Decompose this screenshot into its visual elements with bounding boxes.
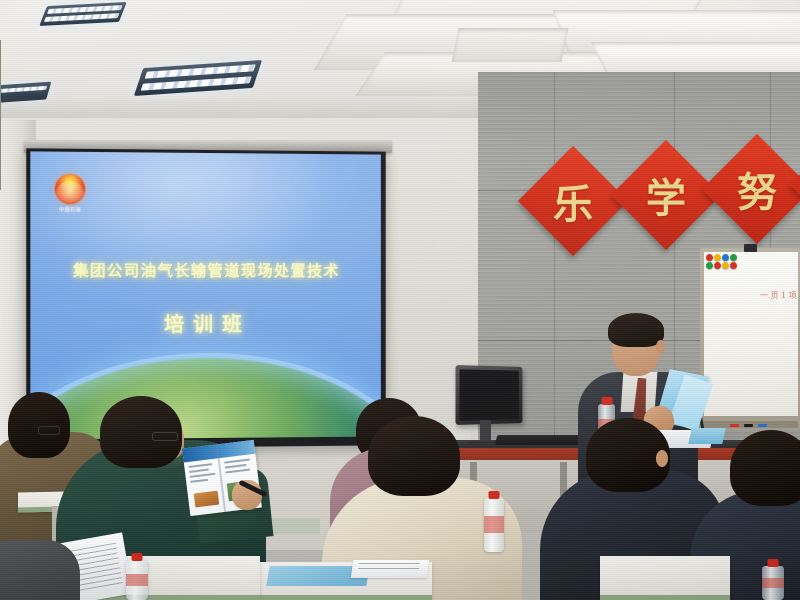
desk-blue-folder: [688, 428, 725, 444]
attendee-dark-suit-far-right-head: [730, 430, 800, 506]
slide-title: 集团公司油气长输管道现场处置技术: [30, 259, 381, 282]
wall-banner-xue: 学: [611, 140, 721, 250]
banner-glyph: 学: [627, 156, 705, 234]
whiteboard-magnet: [730, 262, 737, 269]
whiteboard-writing: 一 页 1 项: [760, 290, 800, 301]
water-bottle: [484, 498, 504, 552]
attendee-cream-head: [368, 416, 460, 496]
wall-banner-le: 乐: [518, 146, 628, 256]
cnpc-sun-logo: 中国石油: [49, 174, 92, 214]
desk-papers: [351, 560, 430, 578]
eyeglasses-icon: [38, 426, 60, 435]
presenter-hair: [608, 313, 664, 347]
banner-glyph: 乐: [534, 162, 612, 240]
cnpc-sun-icon: [55, 174, 85, 204]
photo-scene: 乐 学 努 一 页 1 项: [0, 0, 800, 600]
presenter-ear: [656, 340, 665, 354]
whiteboard-magnet: [706, 262, 713, 269]
ceiling-light-panel: [39, 2, 127, 26]
whiteboard-magnet: [722, 262, 729, 269]
whiteboard-marker: [730, 424, 739, 427]
attendee-table-right: [600, 556, 730, 600]
water-bottle: [762, 566, 784, 600]
attendee-dark-suit-right-ear: [656, 450, 668, 467]
whiteboard: 一 页 1 项: [700, 248, 800, 430]
eyeglasses-icon: [152, 432, 178, 441]
whiteboard-marker: [758, 424, 767, 427]
whiteboard-magnet: [714, 254, 721, 261]
projected-slide: 中国石油 集团公司油气长输管道现场处置技术 培训班: [30, 151, 381, 439]
whiteboard-clip: [744, 244, 757, 252]
banner-glyph: 努: [718, 150, 796, 228]
lcd-monitor: [456, 365, 523, 425]
ceiling-coffer: [451, 28, 568, 62]
slide-subtitle: 培训班: [30, 308, 381, 338]
whiteboard-magnet: [706, 254, 713, 261]
whiteboard-leg: [0, 40, 1, 190]
attendee-gray-foreground: [0, 540, 80, 600]
water-bottle: [126, 560, 148, 600]
whiteboard-magnet: [730, 254, 737, 261]
whiteboard-magnet: [722, 254, 729, 261]
cnpc-logo-caption: 中国石油: [49, 206, 92, 213]
projector-screen-frame: 中国石油 集团公司油气长输管道现场处置技术 培训班: [26, 148, 385, 448]
attendee-brown-head: [8, 392, 70, 458]
ceiling-light-panel: [134, 60, 262, 96]
slide-globe-atmosphere: [30, 352, 381, 440]
whiteboard-surface: 一 页 1 项: [704, 252, 798, 416]
whiteboard-marker: [744, 424, 753, 427]
whiteboard-magnet: [714, 262, 721, 269]
keyboard: [495, 435, 581, 445]
